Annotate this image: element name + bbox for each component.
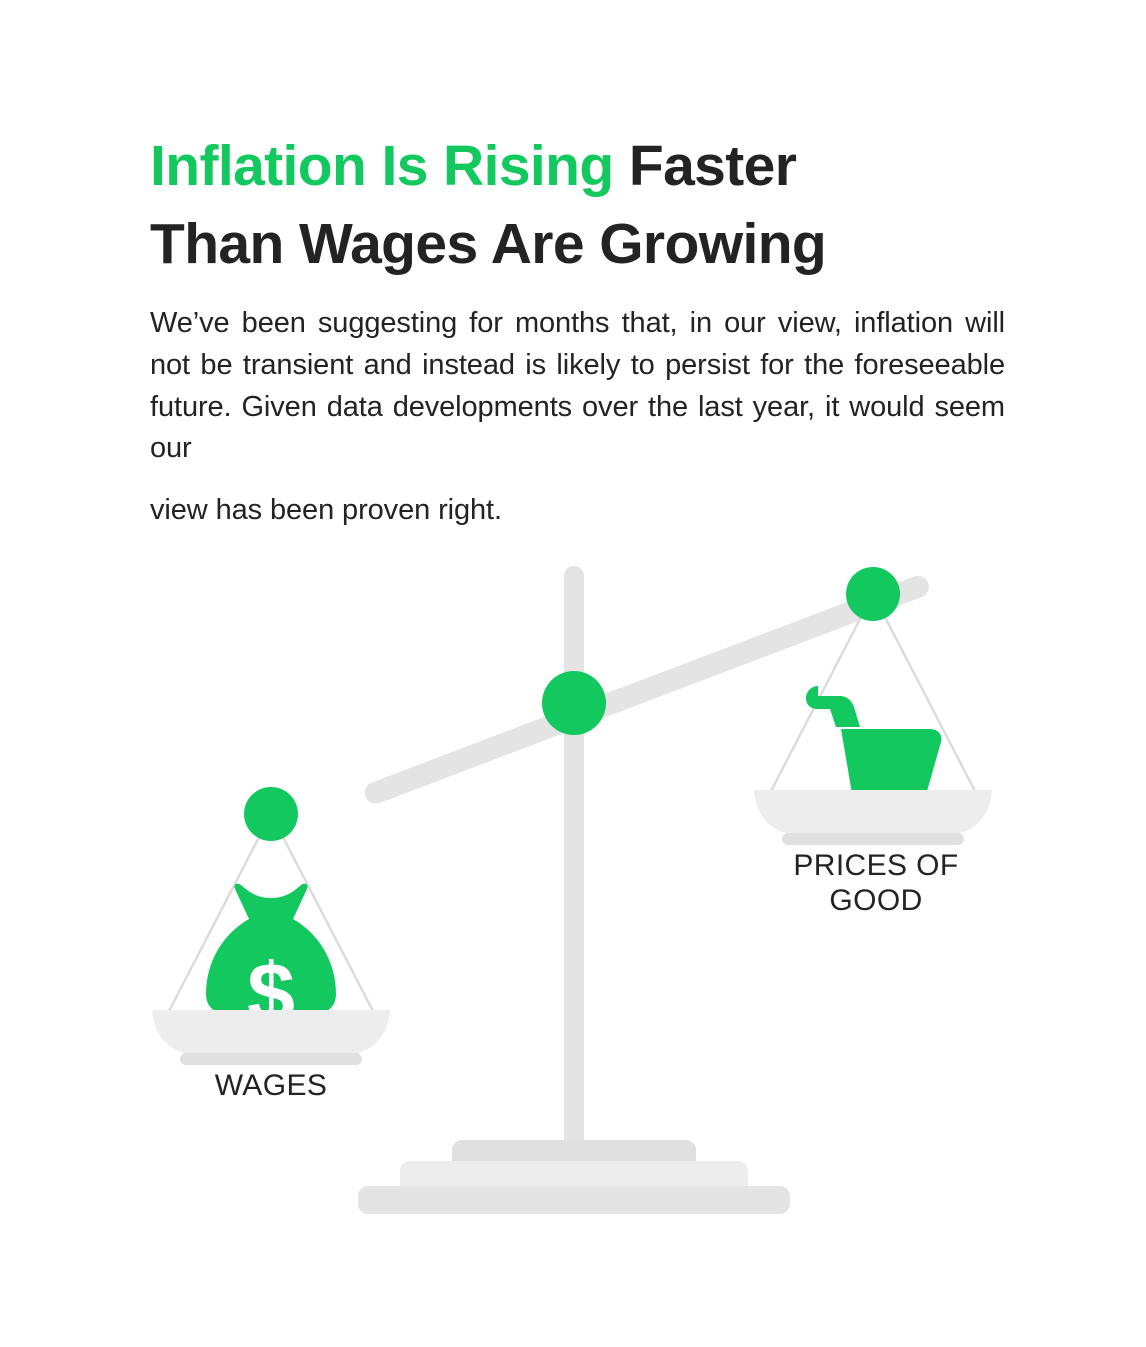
headline-rest: Faster — [614, 134, 797, 198]
scale-post — [564, 566, 584, 1166]
right-pan-label-line2: GOOD — [829, 884, 922, 917]
left-pan-label: WAGES — [130, 1068, 412, 1103]
right-pan-label: PRICES OF GOOD — [735, 848, 1017, 919]
page-title: Inflation Is Rising Faster Than Wages Ar… — [150, 128, 1005, 283]
infographic-page: Inflation Is Rising Faster Than Wages Ar… — [0, 0, 1146, 1347]
text-block: Inflation Is Rising Faster Than Wages Ar… — [150, 128, 1005, 532]
scale-base — [358, 1140, 790, 1214]
body-paragraph-last-line: view has been proven right. — [150, 470, 1005, 532]
headline-accent: Inflation Is Rising — [150, 134, 614, 198]
right-pan-group — [754, 567, 992, 845]
base-tier-3 — [358, 1186, 790, 1214]
right-pan-label-line1: PRICES OF — [793, 849, 958, 882]
body-paragraph: We’ve been suggesting for months that, i… — [150, 283, 1005, 470]
left-pan — [152, 1010, 390, 1065]
headline-line2: Than Wages Are Growing — [150, 212, 826, 276]
left-pivot-circle — [244, 787, 298, 841]
scale-beam — [362, 573, 933, 807]
right-pan — [754, 790, 992, 845]
center-fulcrum-circle — [542, 671, 606, 735]
right-pivot-circle — [846, 567, 900, 621]
left-pan-group: $ — [152, 787, 390, 1065]
